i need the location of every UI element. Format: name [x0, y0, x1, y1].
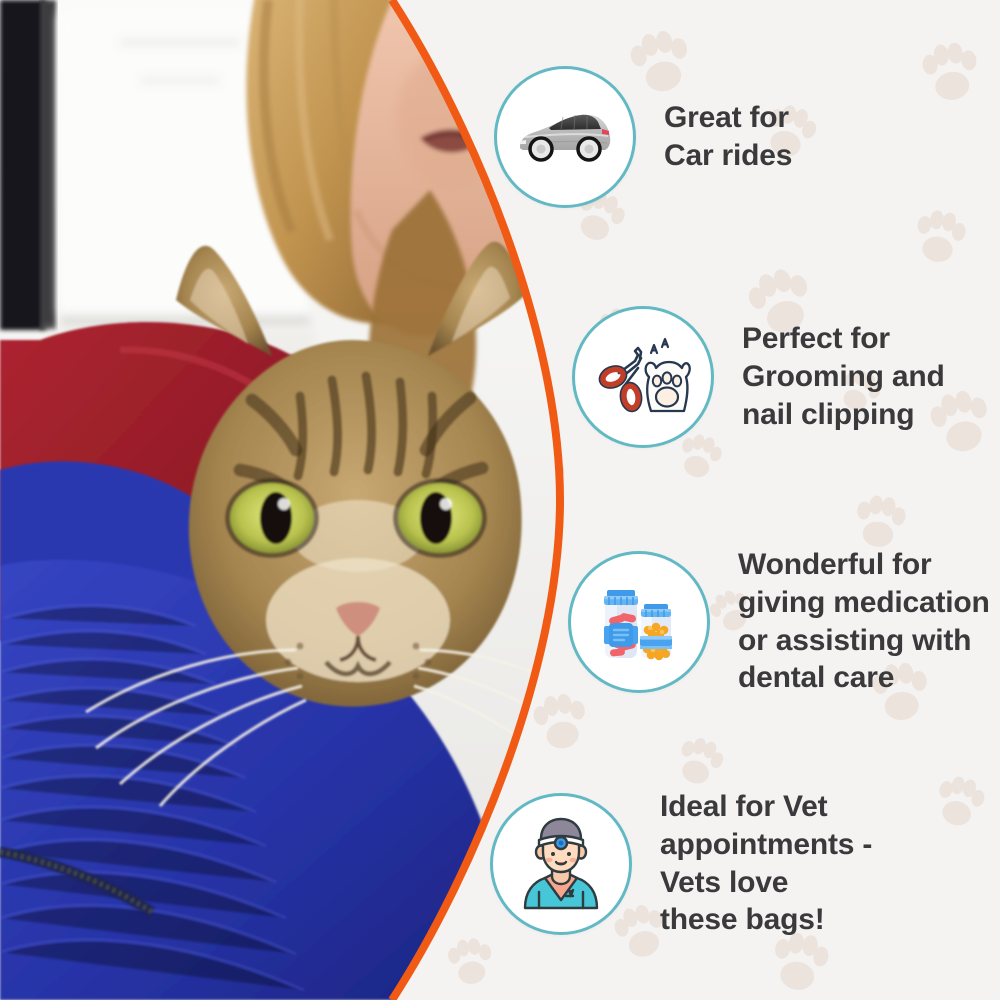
- car-icon-circle[interactable]: [494, 66, 636, 208]
- veterinarian-icon-circle[interactable]: [490, 793, 632, 935]
- feature-vet-appointments[interactable]: Ideal for Vet appointments - Vets love t…: [490, 788, 872, 939]
- nail-clippers-paw-icon-circle[interactable]: [572, 306, 714, 448]
- pill-bottles-icon: [587, 570, 691, 674]
- feature-medication[interactable]: Wonderful for giving medication or assis…: [568, 546, 990, 697]
- feature-label: Wonderful for giving medication or assis…: [738, 546, 990, 697]
- feature-label: Ideal for Vet appointments - Vets love t…: [660, 788, 872, 939]
- veterinarian-icon: [509, 812, 613, 916]
- car-icon: [513, 85, 617, 189]
- infographic-canvas: Great for Car rides: [0, 0, 1000, 1000]
- feature-label: Great for Car rides: [664, 99, 792, 175]
- nail-clippers-paw-icon: [591, 325, 695, 429]
- feature-car-rides[interactable]: Great for Car rides: [494, 66, 792, 208]
- feature-grooming[interactable]: Perfect for Grooming and nail clipping: [572, 306, 945, 448]
- pill-bottles-icon-circle[interactable]: [568, 551, 710, 693]
- feature-label: Perfect for Grooming and nail clipping: [742, 320, 945, 433]
